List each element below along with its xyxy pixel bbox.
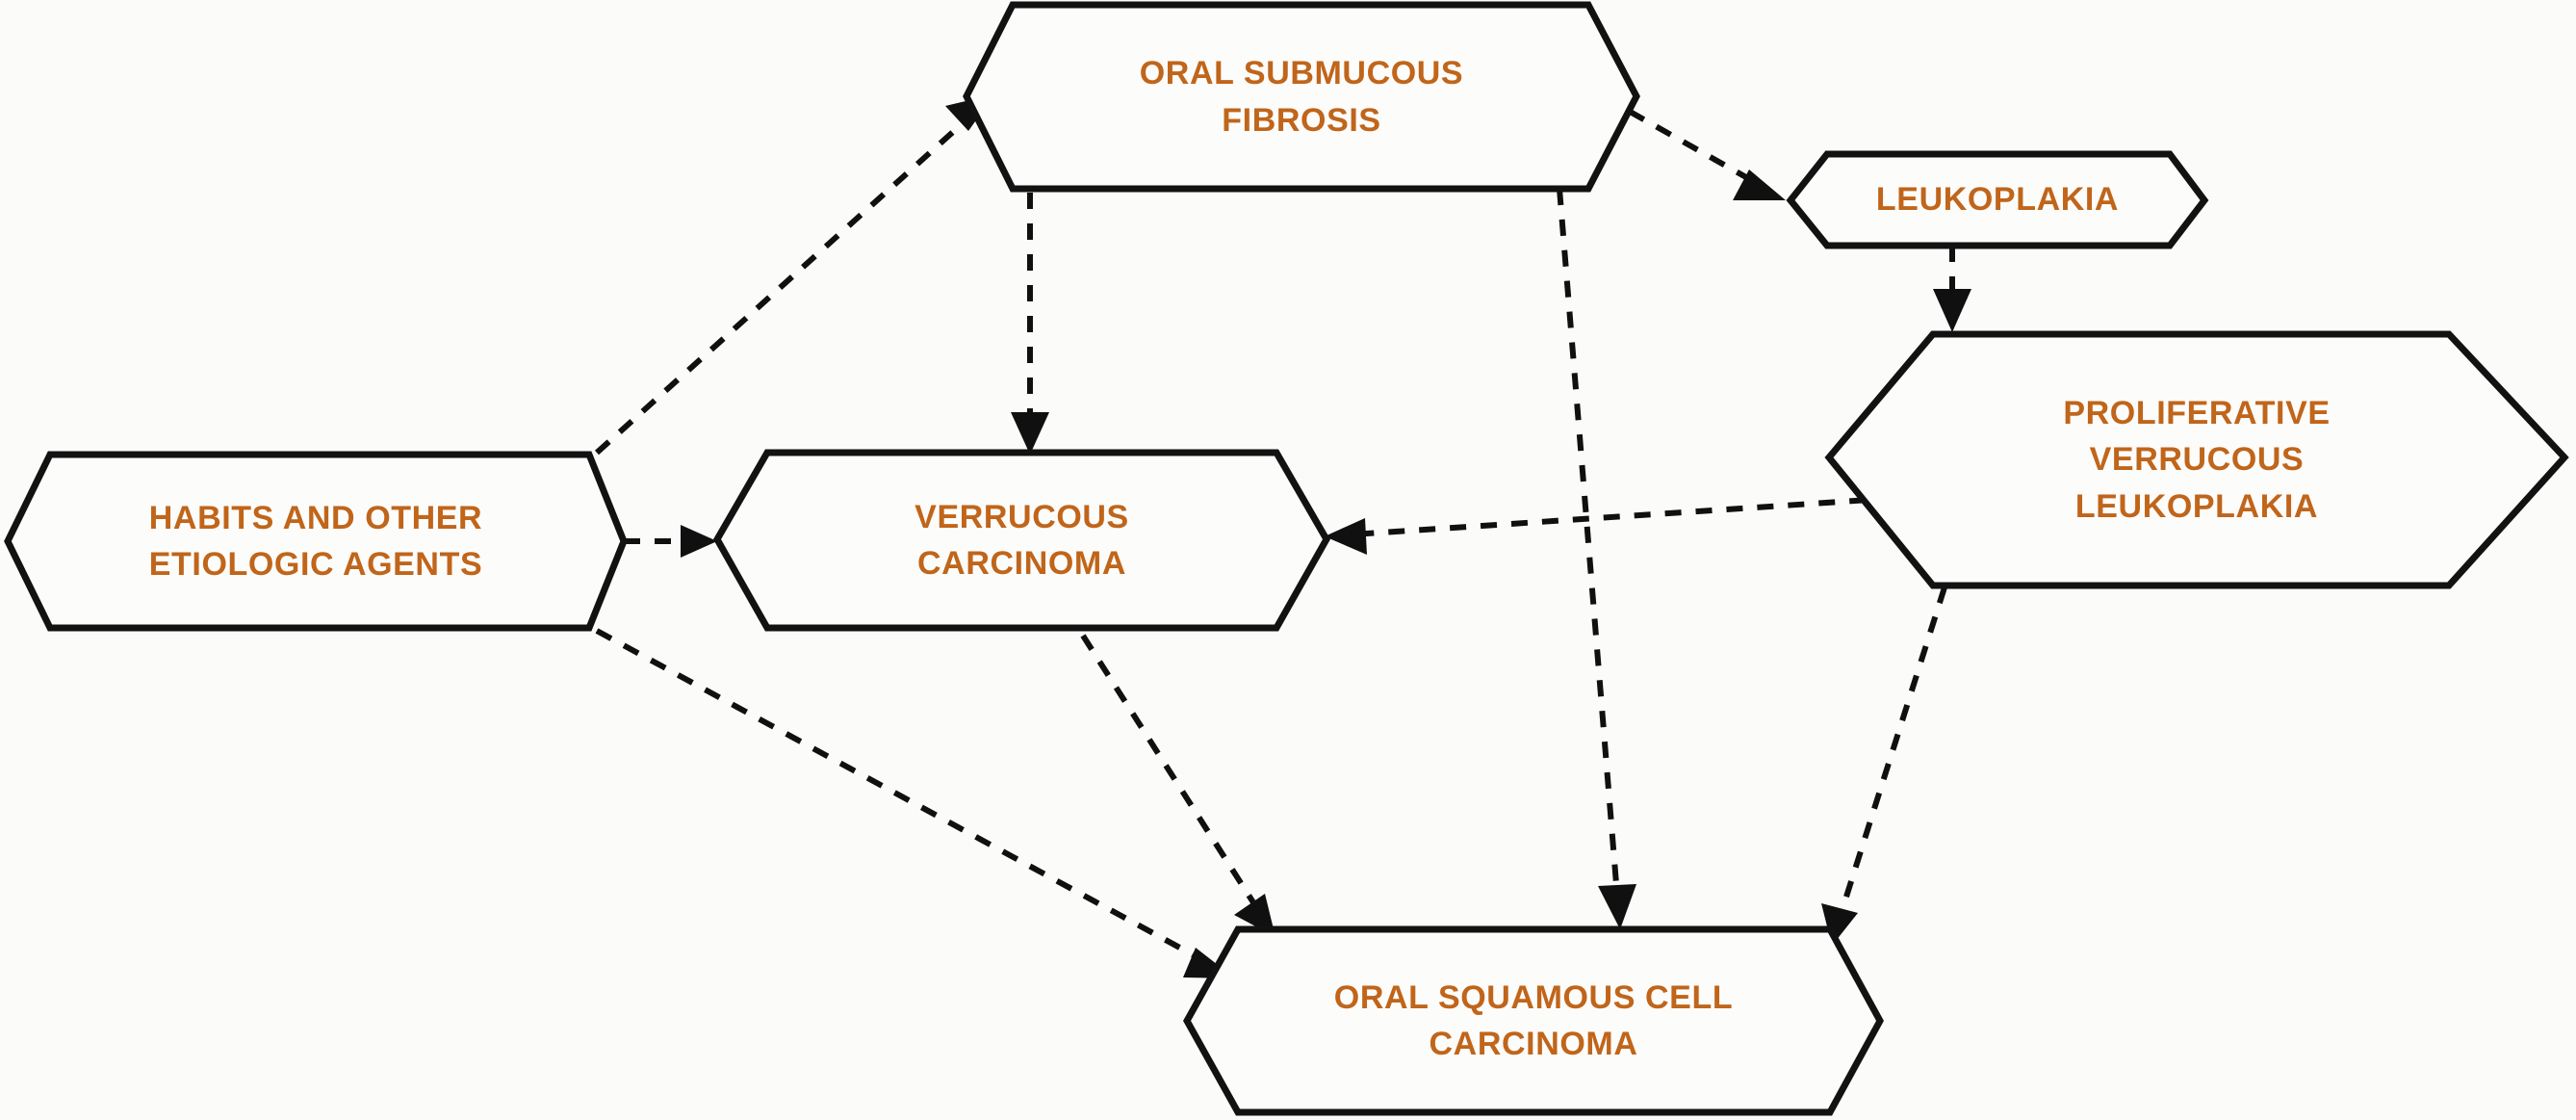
node-leukoplakia[interactable] [1790,154,2204,246]
diagram-svg [0,0,2576,1120]
edge-osmf-to-oscc [1559,189,1636,929]
node-verrucous-carcinoma[interactable] [717,453,1327,628]
edge-verrucous-to-oscc [1083,636,1275,937]
edge-leukoplakia-to-pvl [1933,246,1971,332]
node-layer [8,5,2564,1112]
node-habits-and-other-etiologic-agents[interactable] [8,455,624,628]
edge-pvl-to-oscc [1821,587,1945,946]
edge-pvl-to-verrucous [1325,496,1927,555]
node-oral-squamous-cell-carcinoma[interactable] [1187,929,1880,1112]
edge-habits-to-verrucous [624,525,717,558]
edge-habits-to-oscc [597,631,1235,978]
node-oral-submucous-fibrosis[interactable] [966,5,1636,189]
edge-osmf-to-verrucous [1011,193,1049,455]
edge-habits-to-osmf [597,94,994,453]
diagram-canvas: HABITS AND OTHER ETIOLOGIC AGENTS ORAL S… [0,0,2576,1120]
node-proliferative-verrucous-leukoplakia[interactable] [1829,334,2564,586]
